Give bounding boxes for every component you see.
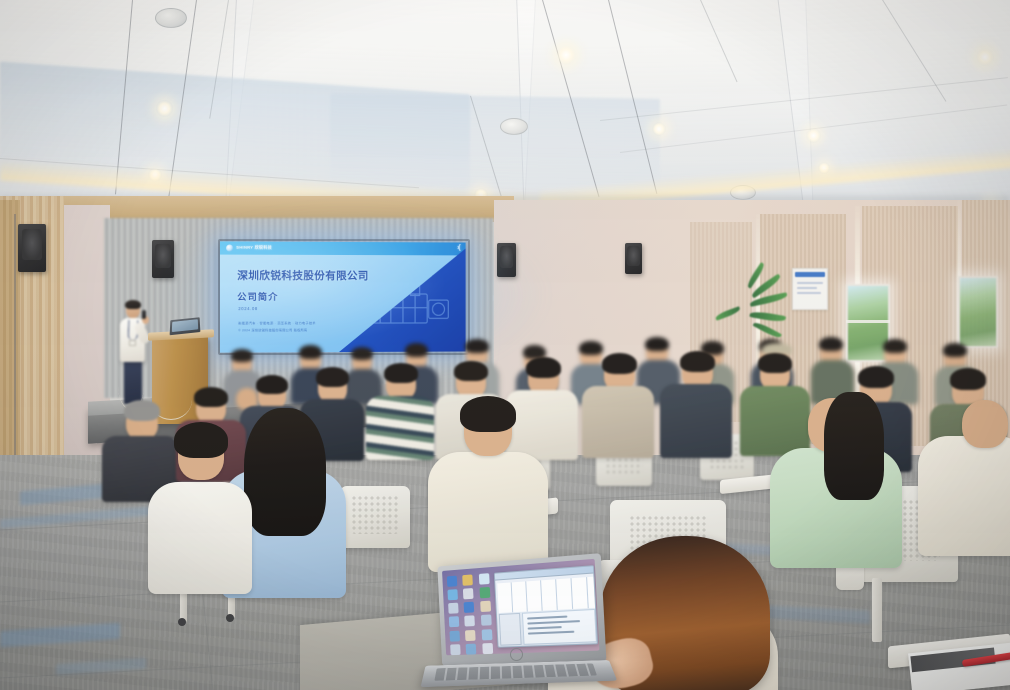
desktop-icon[interactable]: [479, 587, 490, 598]
wall-poster: [792, 268, 828, 310]
laptop-keyboard-base[interactable]: [421, 660, 618, 687]
window-mullion: [846, 320, 890, 323]
desktop-icon[interactable]: [463, 588, 474, 599]
desktop-icon[interactable]: [463, 574, 474, 585]
laptop-lid: [437, 553, 606, 666]
wall-speaker: [18, 224, 46, 272]
attendee-hair: [824, 392, 884, 500]
desktop-icon[interactable]: [481, 629, 492, 640]
ceiling-speaker: [500, 118, 528, 135]
ceiling-speaker: [155, 8, 187, 28]
laptop-screen: [442, 559, 599, 655]
desktop-icon[interactable]: [464, 602, 475, 613]
desktop-icon[interactable]: [450, 644, 461, 655]
desktop-icon[interactable]: [480, 601, 491, 612]
desktop-icon[interactable]: [466, 643, 477, 654]
desktop-icon[interactable]: [448, 603, 458, 614]
poster-header-bar: [795, 272, 825, 277]
attendee-hair: [174, 422, 228, 458]
conference-room-photo: SHINRY 欣锐科技 ›( 深圳欣锐科技股份有: [0, 0, 1010, 690]
laptop-keyboard[interactable]: [434, 663, 597, 680]
attendee-hair: [244, 408, 326, 536]
desktop-icon[interactable]: [482, 643, 493, 654]
attendee-hair: [460, 396, 516, 432]
ceiling: [0, 0, 1010, 215]
window-content-pane[interactable]: [522, 609, 597, 645]
desktop-icons: [445, 571, 497, 655]
window: [958, 276, 998, 348]
wall-speaker: [625, 243, 642, 274]
foreground-laptop: [424, 560, 614, 688]
desktop-icon[interactable]: [447, 576, 457, 587]
desktop-icon[interactable]: [449, 617, 459, 628]
desktop-icon[interactable]: [479, 573, 490, 585]
laptop-brand-logo-icon: [510, 648, 523, 661]
slide-logo-text: SHINRY 欣锐科技: [236, 245, 272, 251]
attendee-head: [962, 400, 1008, 448]
slide-corner-mark: ›(: [457, 244, 460, 251]
slide-logo: SHINRY 欣锐科技: [226, 244, 272, 251]
slide-footer-line-2: © 2024 深圳欣锐科技股份有限公司 版权所有: [238, 327, 307, 332]
desktop-icon[interactable]: [449, 630, 459, 641]
spreadsheet-grid[interactable]: [497, 577, 595, 613]
presenter-badge: [129, 340, 136, 346]
desktop-icon[interactable]: [465, 616, 476, 627]
microphone-icon: [142, 310, 146, 319]
desktop-icon[interactable]: [465, 630, 476, 641]
wall-speaker: [152, 240, 174, 278]
wall-speaker: [497, 243, 516, 277]
projection-screen: SHINRY 欣锐科技 ›( 深圳欣锐科技股份有: [220, 241, 466, 352]
attendee-torso: [918, 436, 1010, 556]
attendee-torso: [428, 452, 548, 572]
company-logo-icon: [226, 244, 233, 251]
slide-title: 深圳欣锐科技股份有限公司: [237, 268, 368, 283]
chair: [340, 486, 410, 548]
application-window[interactable]: [494, 565, 598, 648]
presenter-hair: [125, 300, 141, 309]
desktop-icon[interactable]: [481, 615, 492, 626]
window-sidebar[interactable]: [499, 613, 522, 646]
slide-date: 2024.08: [238, 306, 258, 311]
slide-subtitle: 公司简介: [237, 290, 278, 303]
slide-footer-line-1: 新能源汽车 · 智能电源 · 高压系统 · 动力电子技术: [238, 320, 316, 325]
desktop-icon[interactable]: [447, 589, 457, 600]
